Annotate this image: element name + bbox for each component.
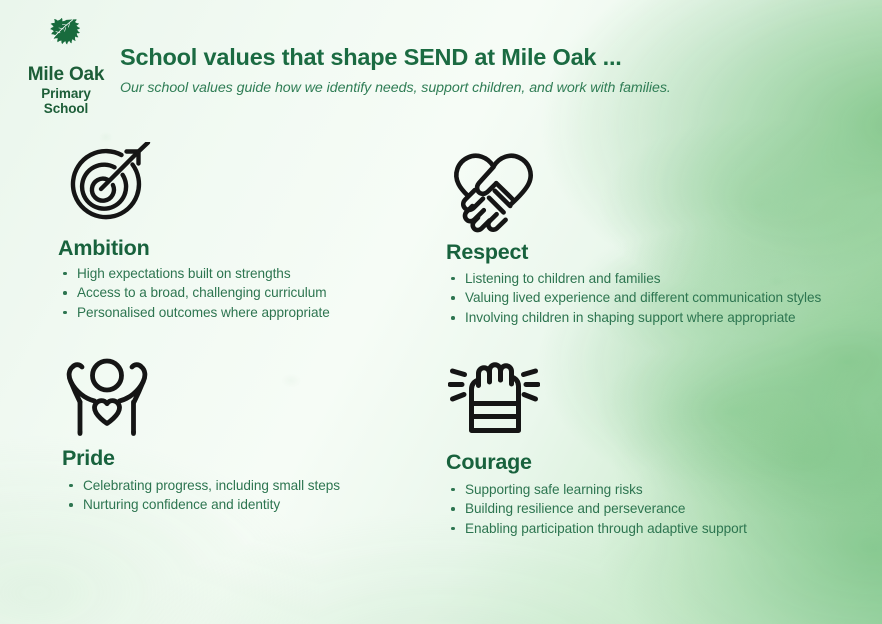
values-grid: Ambition High expectations built on stre… — [0, 120, 882, 624]
person-raised-arms-heart-icon — [64, 356, 150, 440]
value-title-respect: Respect — [446, 240, 866, 265]
value-title-ambition: Ambition — [58, 236, 438, 261]
raised-fist-icon — [448, 358, 540, 444]
value-points-respect: Listening to children and families Valui… — [446, 269, 866, 328]
list-item: Celebrating progress, including small st… — [62, 476, 442, 495]
page-subtitle: Our school values guide how we identify … — [120, 80, 858, 98]
slide-header: Mile Oak Primary School School values th… — [0, 0, 882, 120]
list-item: Access to a broad, challenging curriculu… — [58, 283, 438, 302]
handshake-heart-icon — [448, 148, 540, 234]
value-points-courage: Supporting safe learning risks Building … — [446, 480, 866, 538]
title-block: School values that shape SEND at Mile Oa… — [120, 44, 858, 98]
value-title-pride: Pride — [62, 446, 442, 471]
page-title: School values that shape SEND at Mile Oa… — [120, 44, 858, 71]
list-item: Nurturing confidence and identity — [62, 495, 442, 514]
school-logo: Mile Oak Primary School — [20, 18, 112, 117]
target-arrow-icon — [60, 142, 156, 230]
value-points-pride: Celebrating progress, including small st… — [62, 476, 442, 515]
value-card-ambition: Ambition High expectations built on stre… — [58, 142, 438, 322]
list-item: Involving children in shaping support wh… — [446, 308, 866, 328]
list-item: Listening to children and families — [446, 269, 866, 289]
list-item: Building resilience and perseverance — [446, 499, 866, 518]
value-card-courage: Courage Supporting safe learning risks B… — [446, 358, 866, 538]
value-card-respect: Respect Listening to children and famili… — [446, 148, 866, 328]
value-card-pride: Pride Celebrating progress, including sm… — [62, 356, 442, 515]
oak-leaf-icon — [39, 18, 93, 64]
value-points-ambition: High expectations built on strengths Acc… — [58, 264, 438, 322]
list-item: Enabling participation through adaptive … — [446, 519, 866, 538]
list-item: Personalised outcomes where appropriate — [58, 303, 438, 322]
list-item: Valuing lived experience and different c… — [446, 288, 866, 308]
value-title-courage: Courage — [446, 450, 866, 475]
slide-canvas: Mile Oak Primary School School values th… — [0, 0, 882, 624]
logo-school-name: Mile Oak — [20, 65, 112, 85]
list-item: Supporting safe learning risks — [446, 480, 866, 499]
list-item: High expectations built on strengths — [58, 264, 438, 283]
logo-school-subtitle: Primary School — [20, 86, 112, 117]
